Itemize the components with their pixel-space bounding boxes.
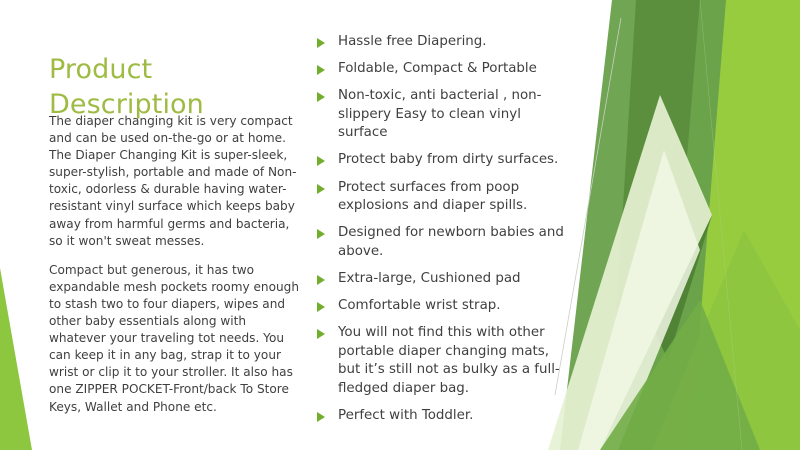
list-item-label: Non-toxic, anti bacterial , non-slippery… <box>338 88 541 140</box>
page-title: Product Description <box>49 52 299 122</box>
list-item-label: Protect surfaces from poop explosions an… <box>338 180 527 214</box>
feature-list: Hassle free Diapering. Foldable, Compact… <box>316 33 574 426</box>
list-item-label: You will not find this with other portab… <box>338 325 560 396</box>
triangle-right-icon <box>317 38 325 48</box>
triangle-right-icon <box>317 275 325 285</box>
triangle-right-icon <box>317 65 325 75</box>
description-paragraph-2: Compact but generous, it has two expanda… <box>49 262 299 416</box>
triangle-right-icon <box>317 92 325 102</box>
list-item: Extra-large, Cushioned pad <box>316 270 574 289</box>
triangle-right-icon <box>317 229 325 239</box>
triangle-right-icon <box>317 302 325 312</box>
list-item: Foldable, Compact & Portable <box>316 60 574 79</box>
list-item-label: Hassle free Diapering. <box>338 34 487 49</box>
triangle-right-icon <box>317 329 325 339</box>
list-item: You will not find this with other portab… <box>316 324 574 398</box>
triangle-right-icon <box>317 184 325 194</box>
triangle-right-icon <box>317 156 325 166</box>
list-item-label: Perfect with Toddler. <box>338 408 473 423</box>
list-item: Perfect with Toddler. <box>316 407 574 426</box>
list-item: Non-toxic, anti bacterial , non-slippery… <box>316 87 574 143</box>
list-item: Designed for newborn babies and above. <box>316 224 574 261</box>
list-item: Protect surfaces from poop explosions an… <box>316 179 574 216</box>
description-body: The diaper changing kit is very compact … <box>49 113 299 416</box>
list-item-label: Foldable, Compact & Portable <box>338 61 537 76</box>
triangle-right-icon <box>317 412 325 422</box>
list-item: Comfortable wrist strap. <box>316 297 574 316</box>
list-item-label: Designed for newborn babies and above. <box>338 225 564 259</box>
page-title-line-1: Product <box>49 52 299 87</box>
list-item: Hassle free Diapering. <box>316 33 574 52</box>
list-item-label: Protect baby from dirty surfaces. <box>338 152 558 167</box>
slide-canvas: Product Description The diaper changing … <box>0 0 800 450</box>
description-paragraph-1: The diaper changing kit is very compact … <box>49 113 299 250</box>
list-item-label: Comfortable wrist strap. <box>338 298 501 313</box>
list-item-label: Extra-large, Cushioned pad <box>338 271 521 286</box>
list-item: Protect baby from dirty surfaces. <box>316 151 574 170</box>
